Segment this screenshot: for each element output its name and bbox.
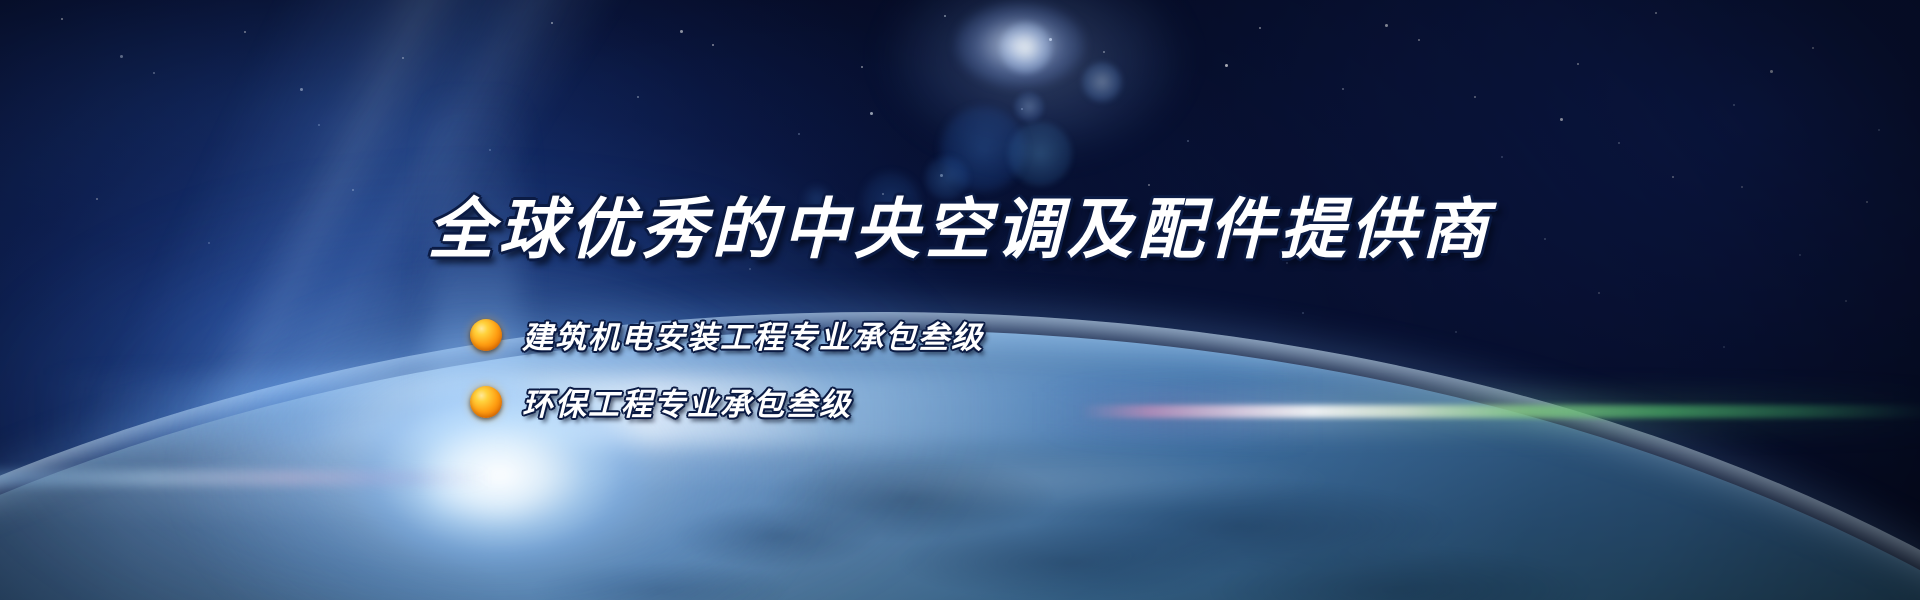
bullet-label-1: 建筑机电安装工程专业承包叁级	[522, 312, 984, 357]
orange-dot-icon	[470, 319, 502, 351]
banner-bullet-list: 建筑机电安装工程专业承包叁级 环保工程专业承包叁级	[470, 312, 984, 424]
list-item: 环保工程专业承包叁级	[470, 379, 984, 424]
orange-dot-icon	[470, 386, 502, 418]
list-item: 建筑机电安装工程专业承包叁级	[470, 312, 984, 357]
bullet-label-2: 环保工程专业承包叁级	[522, 379, 852, 424]
banner-content: 全球优秀的中央空调及配件提供商 建筑机电安装工程专业承包叁级 环保工程专业承包叁…	[0, 0, 1920, 600]
hero-banner: 全球优秀的中央空调及配件提供商 建筑机电安装工程专业承包叁级 环保工程专业承包叁…	[0, 0, 1920, 600]
banner-headline: 全球优秀的中央空调及配件提供商	[0, 196, 1920, 262]
